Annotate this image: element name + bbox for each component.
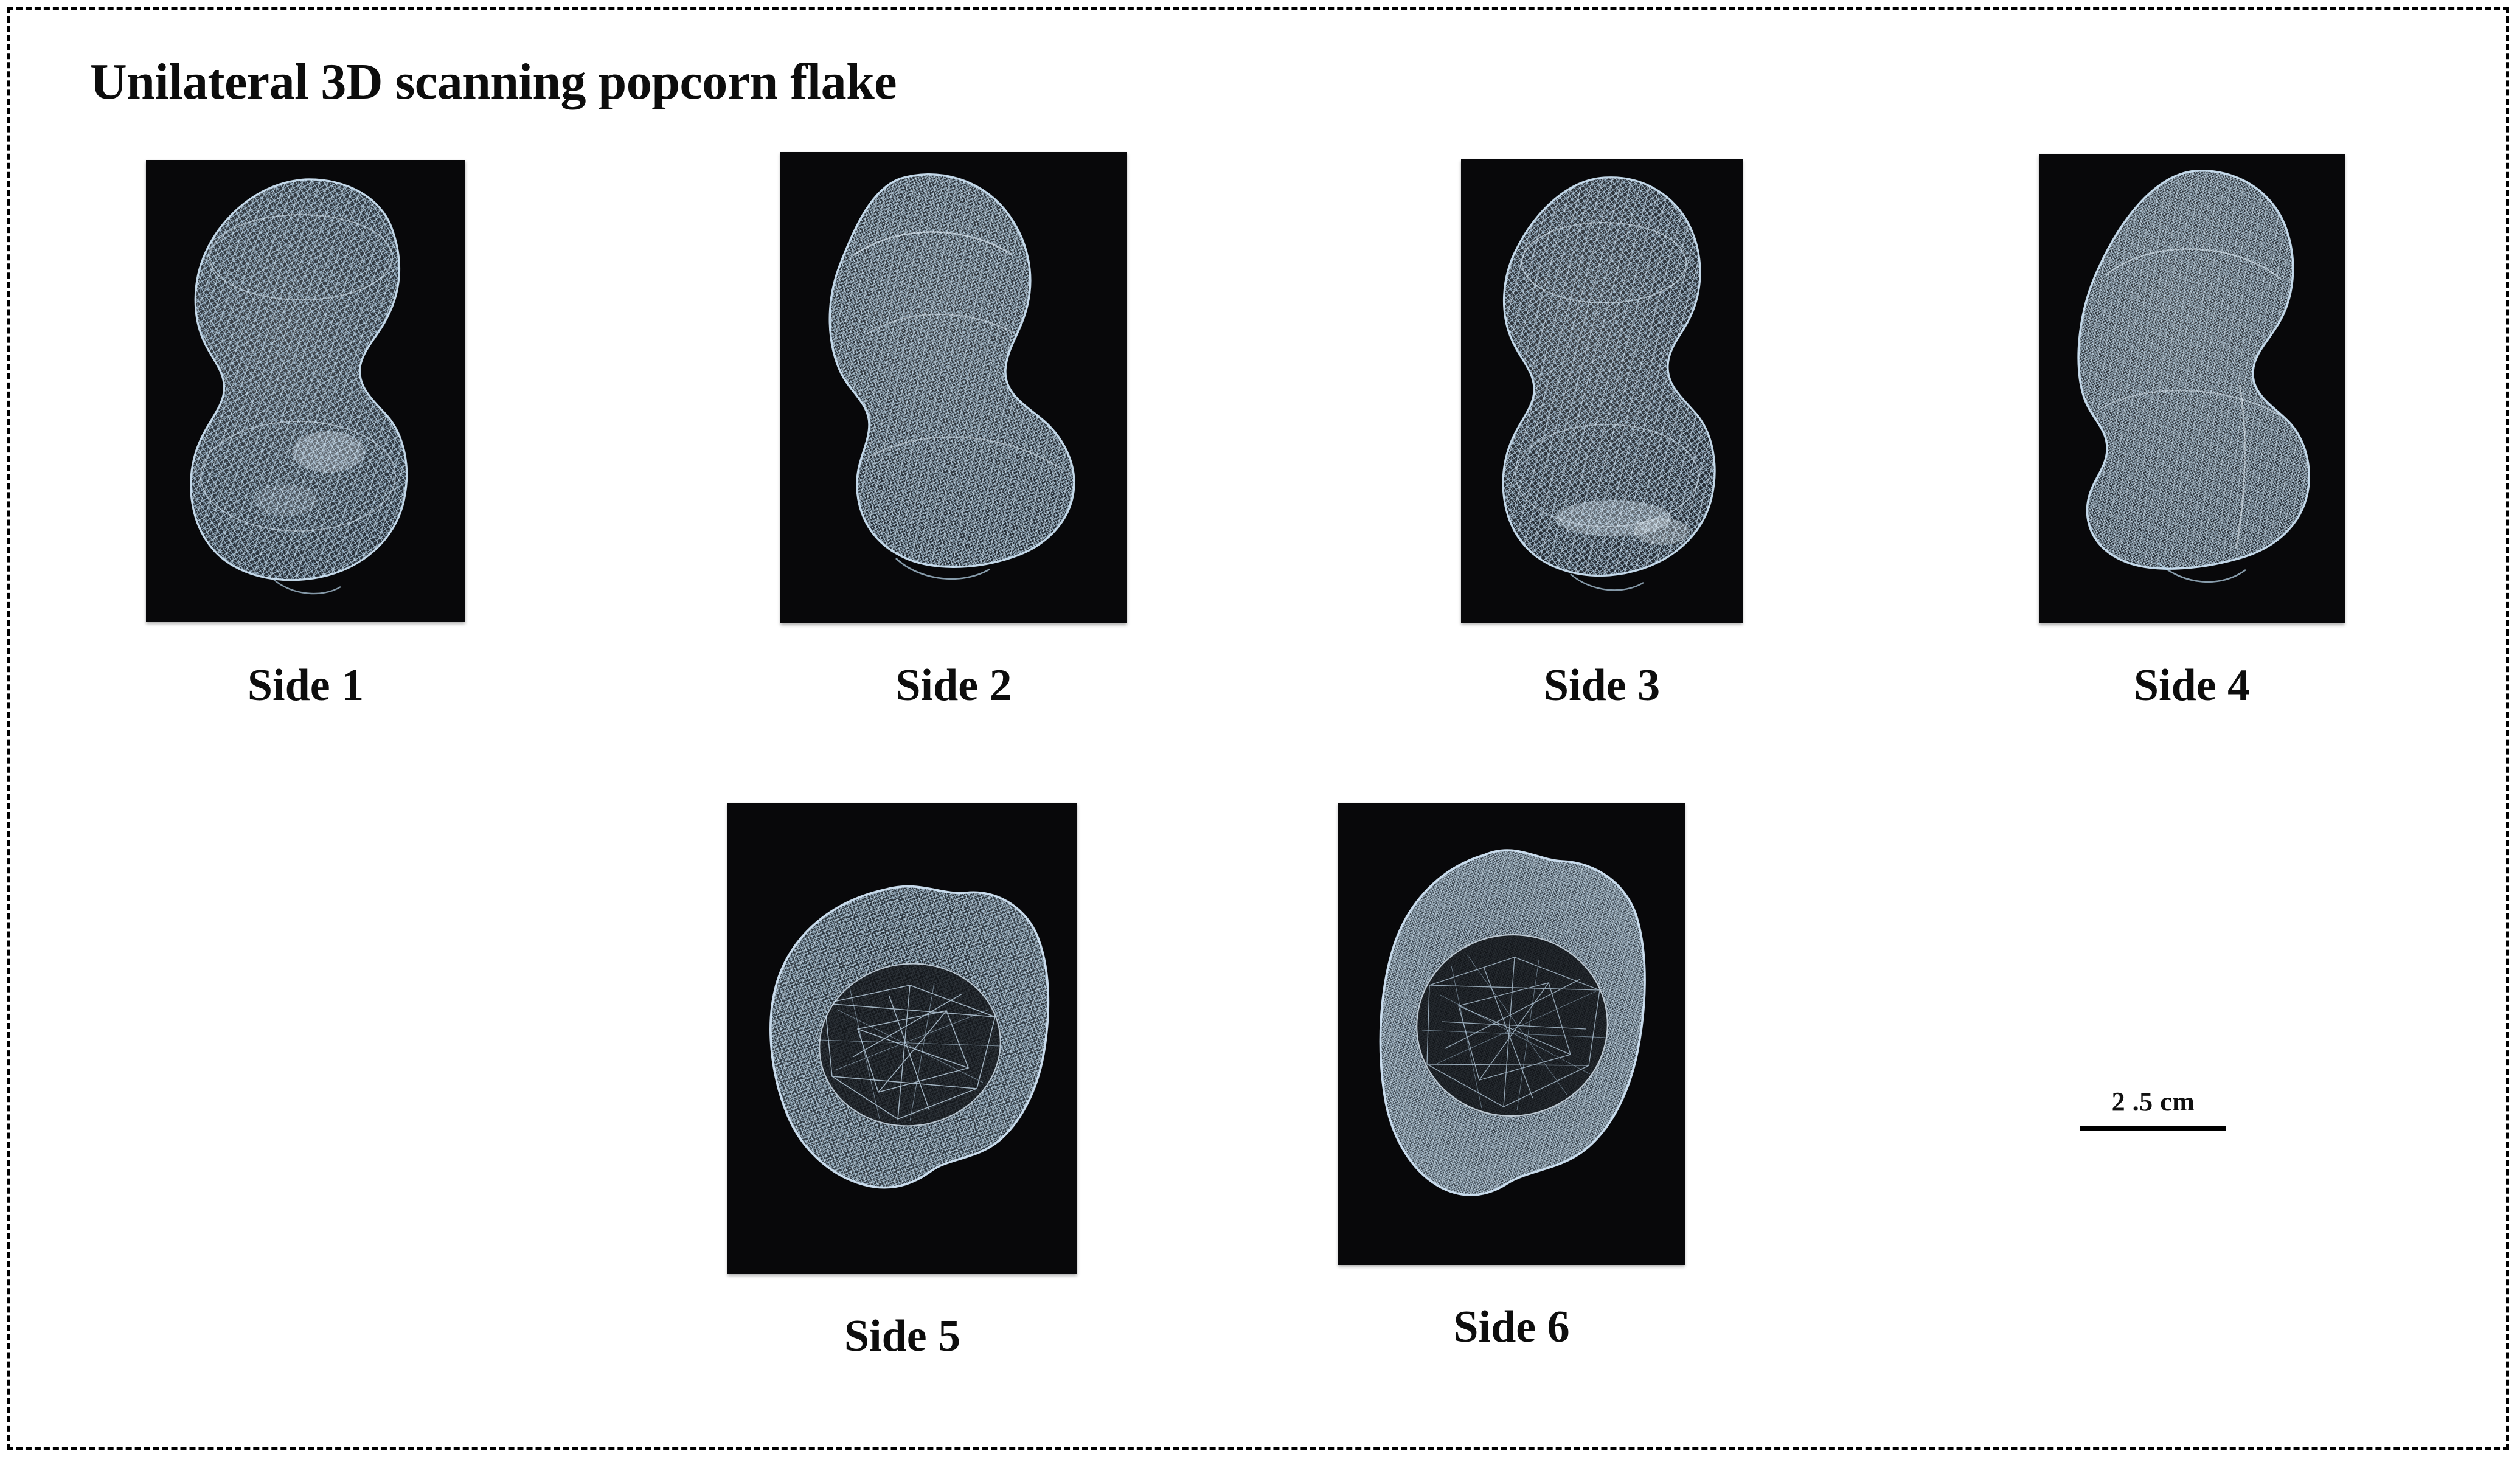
panel-side-3 bbox=[1461, 159, 1743, 623]
caption-side-6: Side 6 bbox=[1338, 1301, 1685, 1353]
panel-side-1 bbox=[146, 160, 465, 622]
caption-side-2: Side 2 bbox=[780, 660, 1127, 712]
figure-canvas: Unilateral 3D scanning popcorn flake bbox=[0, 0, 2520, 1462]
scale-bar-label: 2 .5 cm bbox=[2080, 1089, 2226, 1115]
panel-side-2 bbox=[780, 152, 1127, 623]
scale-bar: 2 .5 cm bbox=[2080, 1089, 2226, 1131]
figure-title: Unilateral 3D scanning popcorn flake bbox=[90, 52, 897, 111]
caption-side-3: Side 3 bbox=[1461, 660, 1743, 712]
scale-bar-line bbox=[2080, 1126, 2226, 1131]
caption-side-1: Side 1 bbox=[146, 660, 465, 712]
panel-side-6 bbox=[1338, 803, 1685, 1265]
panel-side-5 bbox=[727, 803, 1077, 1274]
caption-side-4: Side 4 bbox=[2039, 660, 2345, 712]
panel-side-4 bbox=[2039, 154, 2345, 623]
caption-side-5: Side 5 bbox=[727, 1311, 1077, 1362]
